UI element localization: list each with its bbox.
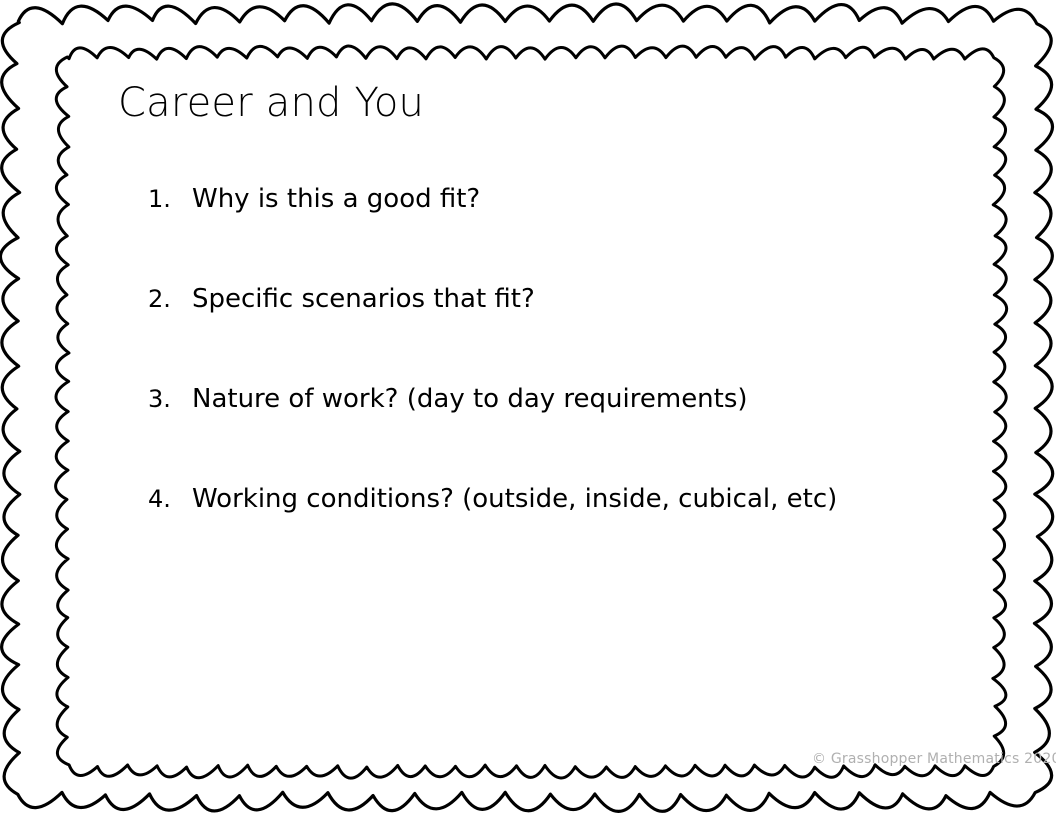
list-item-text: Why is this a good fit?	[192, 186, 480, 212]
list-item: 3. Nature of work? (day to day requireme…	[148, 386, 948, 486]
list-item-number: 4.	[148, 487, 192, 511]
list-item: 2. Specific scenarios that fit?	[148, 286, 948, 386]
list-item-number: 1.	[148, 187, 192, 211]
question-list: 1. Why is this a good fit? 2. Specific s…	[148, 186, 948, 586]
list-item: 1. Why is this a good fit?	[148, 186, 948, 286]
list-item-number: 2.	[148, 287, 192, 311]
list-item-text: Specific scenarios that fit?	[192, 286, 535, 312]
list-item-number: 3.	[148, 387, 192, 411]
page-title: Career and You	[118, 80, 424, 126]
list-item-text: Nature of work? (day to day requirements…	[192, 386, 748, 412]
list-item-text: Working conditions? (outside, inside, cu…	[192, 486, 837, 512]
copyright-notice: © Grasshopper Mathematics 2020 ©	[812, 751, 1056, 767]
list-item: 4. Working conditions? (outside, inside,…	[148, 486, 948, 586]
slide-canvas: Career and You 1. Why is this a good fit…	[0, 0, 1056, 816]
